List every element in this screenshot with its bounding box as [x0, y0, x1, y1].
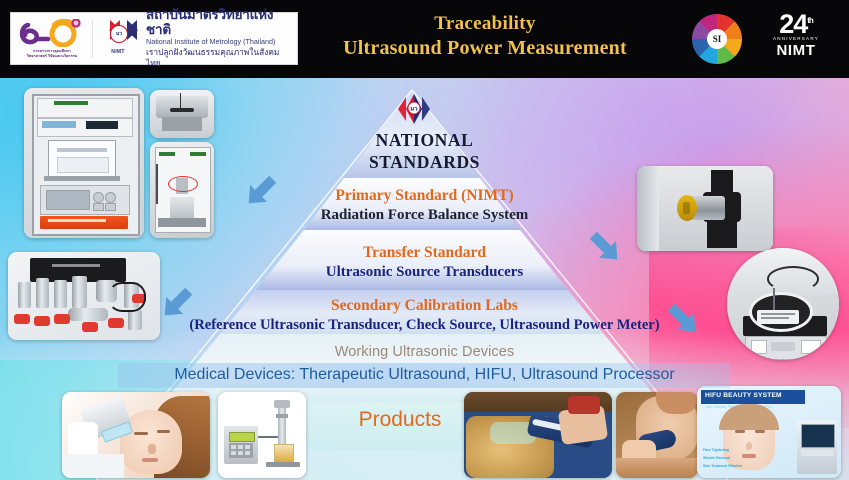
nimt-mark-label: NIMT	[97, 49, 139, 55]
institute-name-th: สถาบันมาตรวิทยาแห่งชาติ	[146, 8, 292, 36]
sonicator-content	[218, 392, 306, 478]
shoulder-therapy-content	[616, 392, 698, 478]
slide-root: กระทรวงการอุดมศึกษา วิทยาศาสตร์ วิจัยและ…	[0, 0, 849, 480]
working-devices-label: Working Ultrasonic Devices	[0, 344, 849, 360]
level-primary-detail: Radiation Force Balance System	[0, 206, 849, 226]
nimt-diamond-icon: มว NIMT	[97, 16, 139, 62]
si-wheel-icon: SI	[692, 14, 742, 64]
photo-vet-therapy	[464, 392, 612, 478]
arrow-transfer-standard-icon	[586, 228, 626, 268]
anniversary-word: ANNIVERSARY	[757, 36, 835, 41]
institute-name-en: National Institute of Metrology (Thailan…	[146, 37, 292, 46]
nimt-apex-diamond-icon: มว	[392, 92, 436, 126]
pyramid-level-secondary: Secondary Calibration Labs (Reference Ul…	[0, 296, 849, 335]
photo-shoulder-therapy	[616, 392, 698, 478]
thai-numeral-60-icon	[18, 19, 86, 47]
institute-name-block: สถาบันมาตรวิทยาแห่งชาติ National Institu…	[143, 8, 292, 68]
anniversary-org: NIMT	[757, 42, 835, 59]
pyramid-apex-title: NATIONAL STANDARDS	[0, 130, 849, 174]
beauty-ad-bullet-1: Face Tightening	[703, 448, 729, 452]
beauty-ad-bullet-2: Wrinkle Removal	[703, 456, 730, 460]
beauty-ad-bullet-3: Skin Treatment Effective	[703, 464, 742, 468]
title-line-2: Ultrasound Power Measurement	[300, 36, 670, 61]
nimt-logo-box: กระทรวงการอุดมศึกษา วิทยาศาสตร์ วิจัยและ…	[10, 12, 298, 65]
institute-tagline-th: เราปลูกฝังวัฒนธรรมคุณภาพในสังคมไทย	[146, 47, 292, 69]
photo-facial-hifu	[62, 392, 210, 478]
vet-therapy-content	[464, 392, 612, 478]
svg-text:มว: มว	[410, 106, 418, 113]
facial-hifu-content	[62, 392, 210, 478]
anniversary-number: 24th	[757, 12, 835, 38]
slide-title: Traceability Ultrasound Power Measuremen…	[300, 12, 670, 61]
level-secondary-title: Secondary Calibration Labs	[0, 296, 849, 316]
arrow-power-meter-icon	[664, 300, 704, 340]
pyramid-level-primary: Primary Standard (NIMT) Radiation Force …	[0, 186, 849, 226]
logo-divider	[92, 20, 93, 58]
beauty-ad-headline: HIFU BEAUTY SYSTEM	[705, 392, 782, 399]
level-transfer-detail: Ultrasonic Source Transducers	[0, 263, 849, 283]
level-secondary-detail: (Reference Ultrasonic Transducer, Check …	[0, 316, 849, 335]
pyramid-level-transfer: Transfer Standard Ultrasonic Source Tran…	[0, 243, 849, 283]
medical-devices-label: Medical Devices: Therapeutic Ultrasound,…	[0, 366, 849, 384]
products-label: Products	[320, 408, 480, 432]
photo-sonicator	[218, 392, 306, 478]
level-primary-title: Primary Standard (NIMT)	[0, 186, 849, 206]
si-wheel-label: SI	[707, 29, 727, 49]
level-transfer-title: Transfer Standard	[0, 243, 849, 263]
ministry-label: กระทรวงการอุดมศึกษา วิทยาศาสตร์ วิจัยและ…	[16, 49, 88, 60]
anniversary-logo: 24th ANNIVERSARY NIMT	[757, 12, 835, 59]
photo-beauty-ad: HIFU BEAUTY SYSTEM High Intensity Focuse…	[697, 386, 841, 478]
nimt-mark-inner: มว	[110, 25, 128, 43]
beauty-ad-content: HIFU BEAUTY SYSTEM High Intensity Focuse…	[697, 386, 841, 478]
arrow-primary-standard-icon	[240, 172, 280, 212]
title-line-1: Traceability	[300, 12, 670, 36]
60th-anniversary-icon: กระทรวงการอุดมศึกษา วิทยาศาสตร์ วิจัยและ…	[16, 16, 88, 62]
arrow-secondary-labs-icon	[156, 284, 196, 324]
header-bar: กระทรวงการอุดมศึกษา วิทยาศาสตร์ วิจัยและ…	[0, 0, 849, 78]
